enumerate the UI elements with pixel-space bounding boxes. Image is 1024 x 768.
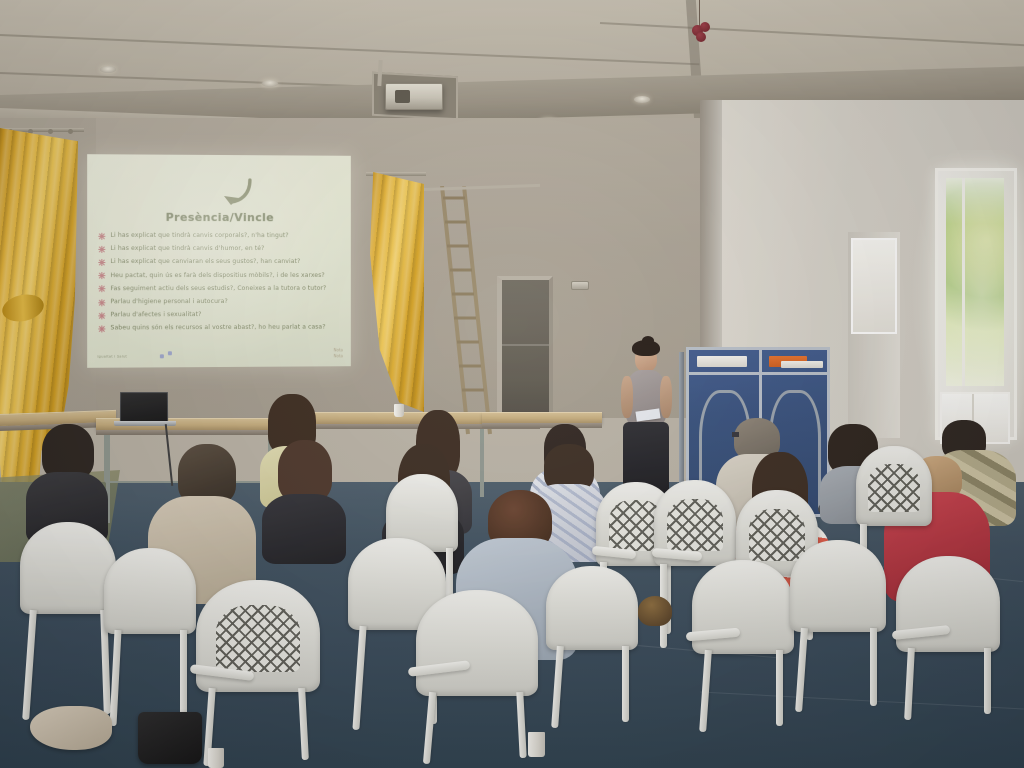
chair-slats bbox=[116, 570, 184, 623]
chair[interactable] bbox=[654, 480, 736, 566]
floor-cloth bbox=[30, 706, 112, 750]
attendee-shirt bbox=[262, 494, 346, 564]
chair[interactable] bbox=[546, 566, 638, 650]
slide-footer-right: Nota Nota bbox=[334, 347, 343, 358]
chair-slats bbox=[32, 546, 103, 603]
chair-leg bbox=[870, 628, 877, 706]
door-panel-line bbox=[502, 344, 549, 346]
chair[interactable] bbox=[896, 556, 1000, 652]
chair-leg bbox=[776, 650, 783, 726]
chair[interactable] bbox=[104, 548, 196, 634]
floor-basket bbox=[638, 596, 672, 626]
pingpong-label bbox=[781, 361, 823, 368]
chair-backrest bbox=[416, 590, 538, 696]
slide-bullet: Li has explicat que canviaran els seus g… bbox=[97, 255, 345, 268]
ceiling-downlight bbox=[262, 80, 278, 87]
chair-slats bbox=[395, 494, 448, 542]
slide-bullet-list: Li has explicat que tindrà canvis corpor… bbox=[97, 229, 345, 335]
chair-backrest bbox=[856, 446, 932, 526]
chair-lattice bbox=[216, 605, 300, 672]
projected-slide: Presència/Vincle Li has explicat que tin… bbox=[87, 154, 351, 368]
slide-logo-mark bbox=[168, 351, 172, 355]
chair-lattice bbox=[667, 499, 723, 551]
floor-cup bbox=[528, 732, 545, 757]
slide-bullet: Sabeu quins són els recursos al vostre a… bbox=[97, 321, 345, 335]
chair[interactable] bbox=[692, 560, 794, 654]
chair[interactable] bbox=[196, 580, 320, 692]
curtain-hook bbox=[48, 129, 53, 134]
chair-backrest bbox=[790, 540, 886, 632]
chair[interactable] bbox=[20, 522, 116, 614]
slide-bullet: Heu pactat, quin ús es farà dels disposi… bbox=[97, 269, 345, 282]
presenter-arm-left bbox=[621, 376, 633, 418]
table-leg bbox=[480, 429, 484, 497]
slide-footer-right-line1: Nota bbox=[334, 347, 343, 353]
chair-backrest bbox=[20, 522, 116, 614]
star-bullet-icon bbox=[98, 246, 105, 253]
window-glass bbox=[946, 178, 1004, 386]
chair-leg bbox=[984, 648, 991, 714]
chair-backrest bbox=[546, 566, 638, 650]
pingpong-label bbox=[697, 356, 747, 367]
curtain-hook bbox=[68, 129, 73, 134]
wall-panel bbox=[851, 238, 897, 334]
attendee-4 bbox=[262, 440, 348, 564]
slide-bullet: Fas seguiment actiu dels seus estudis?, … bbox=[97, 282, 345, 296]
chair-leg bbox=[622, 646, 629, 722]
paper-cup bbox=[394, 404, 404, 417]
decoration-string bbox=[699, 0, 700, 26]
attendee-hair bbox=[178, 444, 236, 504]
wooden-ladder bbox=[430, 186, 500, 436]
chair[interactable] bbox=[416, 590, 538, 696]
chair-lattice bbox=[868, 464, 920, 512]
slide-title: Presència/Vincle bbox=[87, 211, 351, 225]
chair-leg bbox=[180, 630, 187, 722]
chair-slats bbox=[802, 564, 873, 621]
hanging-berry-decoration bbox=[700, 22, 710, 32]
slide-bullet-text: Parlau d'afectes i sexualitat? bbox=[110, 311, 201, 318]
curved-down-arrow-icon bbox=[220, 177, 254, 209]
ceiling-projector bbox=[385, 83, 443, 110]
chair-slats bbox=[558, 588, 626, 640]
folding-table bbox=[482, 412, 602, 423]
slide-bullet: Li has explicat que tindrà canvis d'humo… bbox=[97, 242, 345, 255]
floor-cup bbox=[208, 748, 224, 768]
slide-bullet-text: Parlau d'higiene personal i autocura? bbox=[110, 298, 227, 305]
slide-bullet-text: Li has explicat que canviaran els seus g… bbox=[110, 258, 300, 265]
star-bullet-icon bbox=[98, 259, 105, 266]
wall-fixture bbox=[571, 281, 589, 290]
slide-bullet-text: Fas seguiment actiu dels seus estudis?, … bbox=[110, 285, 326, 292]
attendee-glasses bbox=[732, 432, 739, 437]
star-bullet-icon bbox=[98, 325, 105, 332]
slide-footer-left: Igualtat i Salut bbox=[97, 355, 127, 359]
slide-bullet: Parlau d'afectes i sexualitat? bbox=[97, 308, 345, 322]
attendee-hair bbox=[278, 440, 332, 502]
presenter-arm-right bbox=[660, 376, 672, 418]
floor-bag bbox=[138, 712, 202, 764]
chair-backrest bbox=[104, 548, 196, 634]
ceiling-downlight bbox=[634, 96, 650, 103]
star-bullet-icon bbox=[98, 232, 105, 239]
star-bullet-icon bbox=[98, 299, 105, 306]
pingpong-rail bbox=[689, 372, 827, 375]
slide-logo-mark bbox=[160, 354, 164, 358]
laptop[interactable] bbox=[120, 392, 168, 421]
chair[interactable] bbox=[856, 446, 932, 526]
chair-backrest bbox=[692, 560, 794, 654]
slide-bullet-text: Sabeu quins són els recursos al vostre a… bbox=[110, 324, 325, 332]
chair-slats bbox=[432, 618, 522, 684]
slide-footer-right-line2: Nota bbox=[334, 353, 343, 359]
photo-scene: Presència/Vincle Li has explicat que tin… bbox=[0, 0, 1024, 768]
chair[interactable] bbox=[790, 540, 886, 632]
ceiling-downlight bbox=[100, 66, 116, 73]
slide-bullet-text: Li has explicat que tindrà canvis d'humo… bbox=[110, 245, 264, 252]
slide-bullet-text: Heu pactat, quin ús es farà dels disposi… bbox=[110, 272, 324, 279]
presenter-hair-bun bbox=[642, 336, 654, 345]
star-bullet-icon bbox=[98, 272, 105, 279]
hanging-berry-decoration bbox=[696, 32, 706, 42]
star-bullet-icon bbox=[98, 285, 105, 292]
slide-bullet: Li has explicat que tindrà canvis corpor… bbox=[97, 229, 345, 243]
star-bullet-icon bbox=[98, 312, 105, 319]
doorway bbox=[497, 276, 553, 424]
window-mullion bbox=[962, 178, 965, 386]
slide-bullet: Parlau d'higiene personal i autocura? bbox=[97, 295, 345, 309]
slide-bullet-text: Li has explicat que tindrà canvis corpor… bbox=[110, 232, 288, 239]
